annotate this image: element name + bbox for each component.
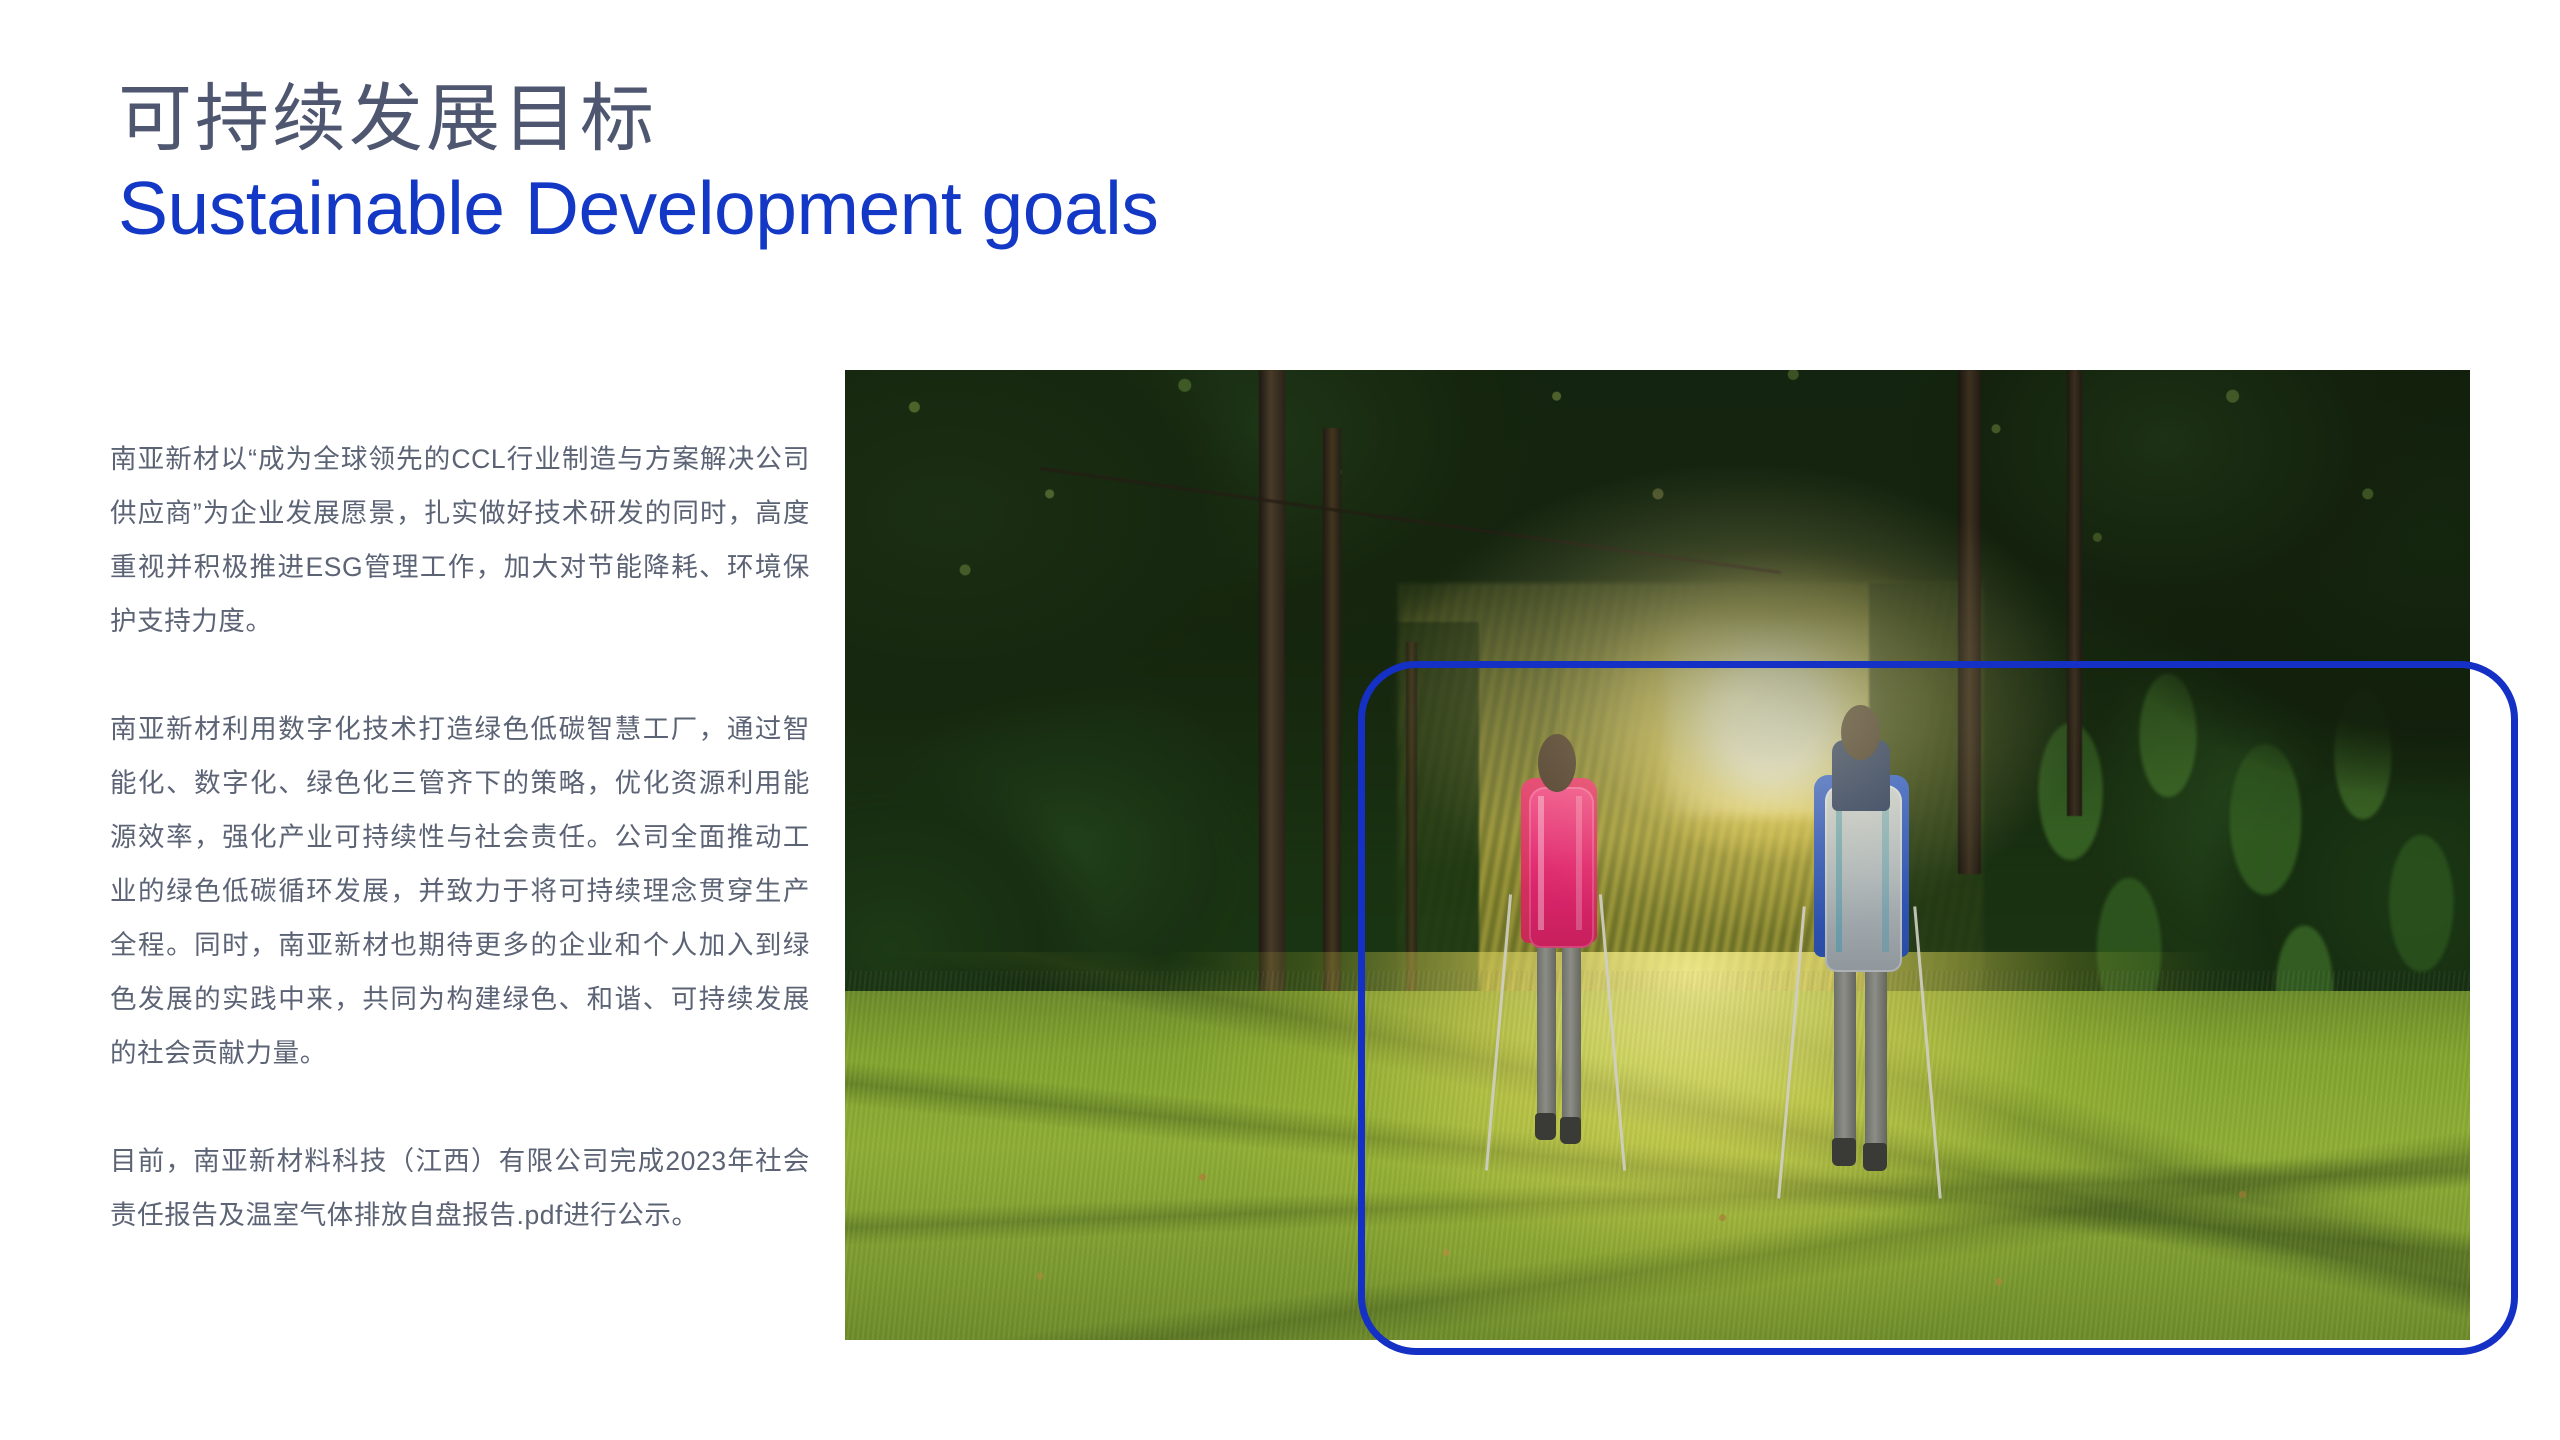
- backpack-strap: [1538, 796, 1544, 930]
- leaf-litter: [845, 1049, 2470, 1340]
- tree-trunk: [1958, 370, 1981, 874]
- hero-photo: [845, 370, 2470, 1340]
- page-title-chinese: 可持续发展目标: [118, 78, 1718, 161]
- hiker-leg: [1537, 935, 1556, 1122]
- slide-canvas: 可持续发展目标 Sustainable Development goals 南亚…: [0, 0, 2560, 1440]
- page-title-english: Sustainable Development goals: [118, 165, 1718, 252]
- backpack-strap: [1836, 795, 1843, 951]
- hiker-leg: [1562, 935, 1581, 1122]
- hiker-shoe: [1560, 1117, 1580, 1144]
- backpack-strap: [1576, 796, 1582, 930]
- hiker-blue-jacket: [1779, 705, 1950, 1209]
- body-paragraph-1: 南亚新材以“成为全球领先的CCL行业制造与方案解决公司供应商”为企业发展愿景，扎…: [110, 432, 810, 648]
- hiker-leg: [1834, 947, 1856, 1149]
- hiker-shoe: [1863, 1143, 1887, 1171]
- backpack-strap: [1882, 795, 1889, 951]
- body-paragraph-3: 目前，南亚新材料科技（江西）有限公司完成2023年社会责任报告及温室气体排放自盘…: [110, 1134, 810, 1242]
- trekking-pole: [1599, 895, 1626, 1171]
- tree-trunk: [2067, 370, 2082, 816]
- hiker-shoe: [1535, 1113, 1555, 1140]
- photo-scene: [845, 370, 2470, 1340]
- body-paragraph-2: 南亚新材利用数字化技术打造绿色低碳智慧工厂，通过智能化、数字化、绿色化三管齐下的…: [110, 702, 810, 1080]
- hiker-head: [1538, 734, 1576, 792]
- hiker-leg: [1865, 947, 1887, 1149]
- body-text-column: 南亚新材以“成为全球领先的CCL行业制造与方案解决公司供应商”为企业发展愿景，扎…: [110, 432, 810, 1242]
- page-title: 可持续发展目标 Sustainable Development goals: [118, 78, 1718, 252]
- trekking-pole: [1913, 907, 1941, 1199]
- hiker-pink-backpack: [1488, 734, 1634, 1180]
- canopy-leaves: [845, 370, 2470, 874]
- hiker-shoe: [1832, 1138, 1856, 1166]
- trekking-pole: [1485, 895, 1512, 1171]
- trekking-pole: [1777, 907, 1805, 1199]
- hiker-head: [1841, 705, 1880, 760]
